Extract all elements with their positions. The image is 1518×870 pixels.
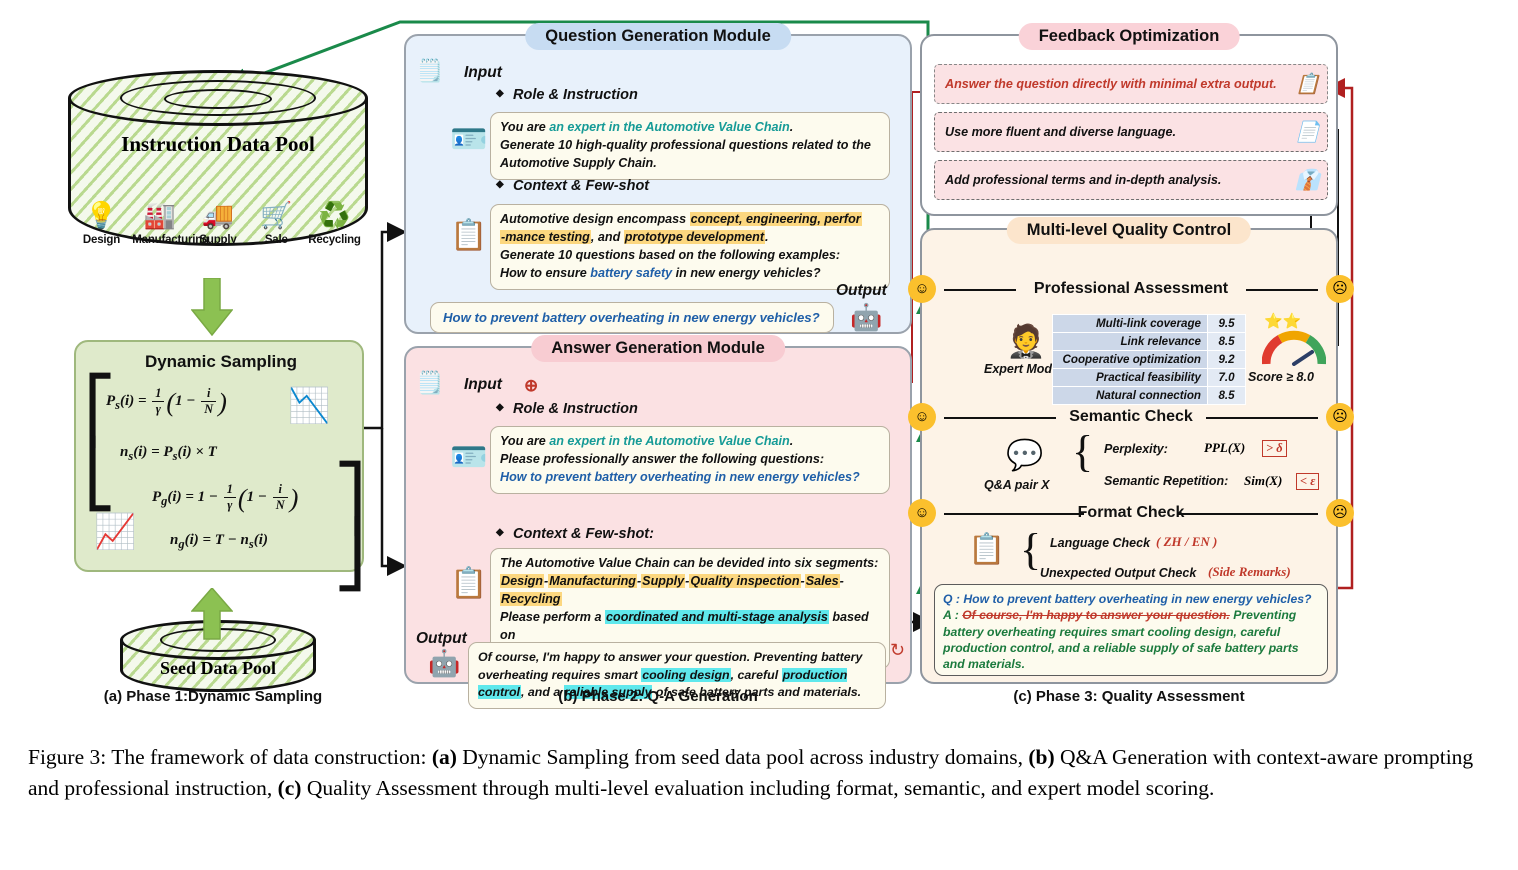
role-prompt-expert: an expert in the Automotive Value Chain bbox=[549, 434, 790, 448]
context-battery-safety: battery safety bbox=[590, 266, 672, 280]
role-prompt-period: . bbox=[790, 120, 794, 134]
stars-icon: ⭐⭐ bbox=[1264, 312, 1301, 330]
sad-face-icon: ☹ bbox=[1326, 403, 1354, 431]
clipboard-warning-icon: 📄 bbox=[1295, 120, 1320, 145]
flow-arrow-down-icon bbox=[191, 278, 233, 336]
input-folder-icon: 🗒️ bbox=[416, 370, 443, 396]
unexpected-output-note: (Side Remarks) bbox=[1208, 564, 1291, 580]
question-role-prompt: You are an expert in the Automotive Valu… bbox=[490, 112, 890, 180]
context-end: . bbox=[765, 230, 769, 244]
figure-caption: Figure 3: The framework of data construc… bbox=[28, 742, 1490, 803]
industry-supply: 🚚 Supply bbox=[191, 200, 246, 248]
segment-recycling: Recycling bbox=[500, 592, 562, 606]
input-folder-icon: 🗒️ bbox=[416, 58, 443, 84]
industry-icon-row: 💡 Design 🏭 Manufacturing 🚚 Supply 🛒 Sale… bbox=[74, 166, 362, 248]
context-line3-prefix: Please perform a bbox=[500, 610, 605, 624]
panel-a-dynamic-sampling: Instruction Data Pool 💡 Design 🏭 Manufac… bbox=[28, 28, 398, 718]
context-line4-prefix: How to ensure bbox=[500, 266, 590, 280]
refresh-loop-icon: ↻ bbox=[890, 640, 905, 661]
score-gauge-icon bbox=[1262, 330, 1326, 366]
phase-caption-a: (a) Phase 1:Dynamic Sampling bbox=[28, 688, 398, 705]
feedback-text: Add professional terms and in-depth anal… bbox=[945, 173, 1221, 187]
sad-face-icon: ☹ bbox=[1326, 499, 1354, 527]
semantic-brace: { bbox=[1072, 426, 1093, 477]
industry-label: Sale bbox=[265, 234, 288, 246]
metric-score: 8.5 bbox=[1208, 333, 1246, 351]
formula-ns: ns(i) = Ps(i) × T bbox=[120, 444, 217, 464]
feedback-item-1: Answer the question directly with minima… bbox=[934, 64, 1328, 104]
quality-control-title: Multi-level Quality Control bbox=[1007, 217, 1251, 244]
industry-recycling: ♻️ Recycling bbox=[307, 200, 362, 248]
expert-warning-icon: 👔 bbox=[1295, 168, 1320, 193]
context-highlight-3: prototype development bbox=[624, 230, 765, 244]
context-line4-suffix: in new energy vehicles? bbox=[672, 266, 820, 280]
format-clipboard-icon: 📋 bbox=[968, 532, 1005, 567]
phase-caption-b: (b) Phase 2: Q-A Generation bbox=[404, 688, 912, 705]
context-analysis-highlight: coordinated and multi-stage analysis bbox=[605, 610, 829, 624]
question-context-prompt: Automotive design encompass concept, eng… bbox=[490, 204, 890, 290]
decreasing-bar-chart-icon: 📉 bbox=[288, 386, 330, 426]
industry-design: 💡 Design bbox=[74, 200, 129, 248]
metric-name: Multi-link coverage bbox=[1053, 315, 1208, 333]
section-context-fewshot: Context & Few-shot bbox=[513, 178, 649, 194]
context-line1: The Automotive Value Chain can be devide… bbox=[500, 556, 878, 570]
question-module-title: Question Generation Module bbox=[525, 23, 791, 50]
formula-pg: Pg(i) = 1 − 1γ(1 − iN) bbox=[152, 482, 298, 514]
question-output-label: Output bbox=[836, 282, 887, 300]
level-line-right bbox=[1206, 417, 1318, 419]
level-line-right bbox=[1246, 289, 1318, 291]
role-prompt-expert: an expert in the Automotive Value Chain bbox=[549, 120, 790, 134]
role-prompt-instruction: Please professionally answer the followi… bbox=[500, 452, 824, 466]
qa-a-label: A : bbox=[943, 608, 959, 622]
dynamic-sampling-box: Dynamic Sampling ⎡ ⎣ ⎤ ⎦ Ps(i) = 1γ(1 − … bbox=[74, 340, 364, 572]
assessment-score-table: Multi-link coverage 9.5 Link relevance 8… bbox=[1052, 314, 1246, 405]
factory-line-icon: 🏭 bbox=[132, 200, 187, 230]
perplexity-label: Perplexity: bbox=[1104, 442, 1168, 456]
section-role-instruction: Role & Instruction bbox=[513, 401, 638, 417]
context-line1-prefix: Automotive design encompass bbox=[500, 212, 690, 226]
answer-role-prompt: You are an expert in the Automotive Valu… bbox=[490, 426, 890, 494]
bracket-left-close: ⎣ bbox=[84, 438, 116, 512]
lightbulb-checklist-icon: 📋 bbox=[450, 218, 487, 253]
feedback-item-3: Add professional terms and in-depth anal… bbox=[934, 160, 1328, 200]
framework-figure: Instruction Data Pool 💡 Design 🏭 Manufac… bbox=[0, 0, 1518, 730]
role-prompt-question: How to prevent battery overheating in ne… bbox=[500, 470, 860, 484]
cylinder-inner-ring-2 bbox=[164, 89, 272, 109]
level-format-check: ☺ Format Check ☹ bbox=[922, 498, 1340, 528]
recycling-plant-icon: ♻️ bbox=[307, 200, 362, 230]
table-row: Link relevance 8.5 bbox=[1053, 333, 1246, 351]
industry-label: Design bbox=[83, 234, 120, 246]
ai-robot-icon: 🤖 bbox=[850, 302, 882, 333]
persona-card-icon: 🪪 bbox=[450, 122, 487, 157]
table-row: Multi-link coverage 9.5 bbox=[1053, 315, 1246, 333]
context-line3: Generate 10 questions based on the follo… bbox=[500, 248, 840, 262]
perplexity-formula: PPL(X) bbox=[1204, 440, 1245, 456]
level-professional-assessment: ☺ Professional Assessment ☹ bbox=[922, 274, 1340, 304]
industry-manufacturing: 🏭 Manufacturing bbox=[132, 200, 187, 248]
language-check-label: Language Check bbox=[1050, 536, 1150, 550]
panel-c-quality-assessment: Feedback Optimization Answer the questio… bbox=[920, 34, 1338, 684]
design-icon: 💡 bbox=[74, 200, 129, 230]
qa-a-struck-text: Of course, I'm happy to answer your ques… bbox=[962, 608, 1230, 622]
merge-node-icon: ⊕ bbox=[524, 376, 538, 396]
feedback-text: Answer the question directly with minima… bbox=[945, 77, 1277, 91]
question-input-label: Input bbox=[464, 64, 502, 82]
context-highlight-1: concept, engineering, perfor bbox=[690, 212, 862, 226]
answer-module-title: Answer Generation Module bbox=[531, 335, 785, 362]
metric-score: 7.0 bbox=[1208, 369, 1246, 387]
instruction-pool-title: Instruction Data Pool bbox=[68, 132, 368, 157]
phase-caption-c: (c) Phase 3: Quality Assessment bbox=[920, 688, 1338, 705]
industry-label: Supply bbox=[199, 234, 236, 246]
ai-robot-icon: 🤖 bbox=[428, 648, 460, 679]
increasing-bar-chart-icon: 📈 bbox=[94, 512, 136, 552]
qa-pair-label: Q&A pair X bbox=[984, 478, 1050, 492]
answer-output-label: Output bbox=[416, 630, 467, 648]
seed-pool-title: Seed Data Pool bbox=[120, 658, 316, 679]
role-prompt-prefix: You are bbox=[500, 434, 549, 448]
segment-design: Design bbox=[500, 574, 544, 588]
metric-name: Cooperative optimization bbox=[1053, 351, 1208, 369]
score-threshold-label: Score ≥ 8.0 bbox=[1248, 370, 1314, 384]
metric-score: 9.5 bbox=[1208, 315, 1246, 333]
table-row: Practical feasibility 7.0 bbox=[1053, 369, 1246, 387]
instruction-data-pool: Instruction Data Pool 💡 Design 🏭 Manufac… bbox=[68, 70, 368, 270]
answer-output-b: , careful bbox=[731, 668, 782, 682]
persona-card-icon: 🪪 bbox=[450, 440, 487, 475]
unexpected-output-check-label: Unexpected Output Check bbox=[1040, 566, 1196, 580]
feedback-optimization-box: Feedback Optimization Answer the questio… bbox=[920, 34, 1338, 216]
section-role-instruction: Role & Instruction bbox=[513, 87, 638, 103]
expert-model-icon: 🤵 bbox=[1006, 322, 1046, 360]
similarity-formula: Sim(X) bbox=[1244, 473, 1282, 489]
similarity-condition: < ε bbox=[1296, 473, 1319, 490]
role-prompt-instruction: Generate 10 high-quality professional qu… bbox=[500, 138, 871, 170]
qa-q-text: How to prevent battery overheating in ne… bbox=[963, 592, 1311, 606]
formula-ng: ng(i) = T − ns(i) bbox=[170, 532, 268, 552]
shopping-cart-icon: 🛒 bbox=[249, 200, 304, 230]
segment-supply: Supply bbox=[641, 574, 685, 588]
answer-highlight-cooling: cooling design bbox=[641, 668, 730, 682]
qa-q-label: Q : bbox=[943, 592, 960, 606]
lightbulb-checklist-icon: 📋 bbox=[450, 566, 487, 601]
sad-face-icon: ☹ bbox=[1326, 275, 1354, 303]
semantic-repetition-label: Semantic Repetition: bbox=[1104, 474, 1228, 488]
role-prompt-period: . bbox=[790, 434, 794, 448]
qa-chat-icon: 💬 bbox=[1006, 438, 1043, 473]
question-output-box: How to prevent battery overheating in ne… bbox=[430, 302, 834, 333]
feedback-item-2: Use more fluent and diverse language. 📄 bbox=[934, 112, 1328, 152]
answer-generation-module: Answer Generation Module 🗒️ Input ⊕ Role… bbox=[404, 346, 912, 684]
feedback-text: Use more fluent and diverse language. bbox=[945, 125, 1176, 139]
language-check-note: ( ZH / EN ) bbox=[1156, 534, 1217, 550]
bracket-right-close: ⎦ bbox=[334, 518, 366, 592]
feedback-title: Feedback Optimization bbox=[1019, 23, 1240, 50]
context-highlight-2: -mance testing bbox=[500, 230, 591, 244]
segment-manufacturing: Manufacturing bbox=[548, 574, 637, 588]
formula-ps: Ps(i) = 1γ(1 − iN) bbox=[106, 386, 227, 418]
metric-score: 9.2 bbox=[1208, 351, 1246, 369]
industry-label: Recycling bbox=[308, 234, 361, 246]
level-semantic-check: ☺ Semantic Check ☹ bbox=[922, 402, 1340, 432]
metric-name: Link relevance bbox=[1053, 333, 1208, 351]
multi-level-quality-control-box: Multi-level Quality Control ☺ Profession… bbox=[920, 228, 1338, 684]
document-alert-icon: 📋 bbox=[1295, 72, 1320, 97]
table-row: Cooperative optimization 9.2 bbox=[1053, 351, 1246, 369]
segment-quality-inspection: Quality inspection bbox=[689, 574, 800, 588]
metric-name: Practical feasibility bbox=[1053, 369, 1208, 387]
truck-icon: 🚚 bbox=[191, 200, 246, 230]
format-brace: { bbox=[1020, 524, 1041, 575]
answer-input-label: Input bbox=[464, 376, 502, 394]
question-generation-module: Question Generation Module 🗒️ Input Role… bbox=[404, 34, 912, 334]
level-line-right bbox=[1178, 513, 1318, 515]
segment-sales: Sales bbox=[805, 574, 840, 588]
industry-sale: 🛒 Sale bbox=[249, 200, 304, 248]
panel-b-qa-generation: Question Generation Module 🗒️ Input Role… bbox=[404, 34, 912, 684]
role-prompt-prefix: You are bbox=[500, 120, 549, 134]
dynamic-sampling-title: Dynamic Sampling bbox=[76, 352, 366, 372]
context-mid: , and bbox=[591, 230, 624, 244]
perplexity-condition: > δ bbox=[1262, 440, 1287, 457]
expert-model-label: Expert Model bbox=[984, 362, 1063, 376]
section-context-fewshot: Context & Few-shot: bbox=[513, 526, 654, 542]
flow-arrow-up-icon bbox=[191, 588, 233, 640]
qa-result-box: Q : How to prevent battery overheating i… bbox=[934, 584, 1328, 676]
